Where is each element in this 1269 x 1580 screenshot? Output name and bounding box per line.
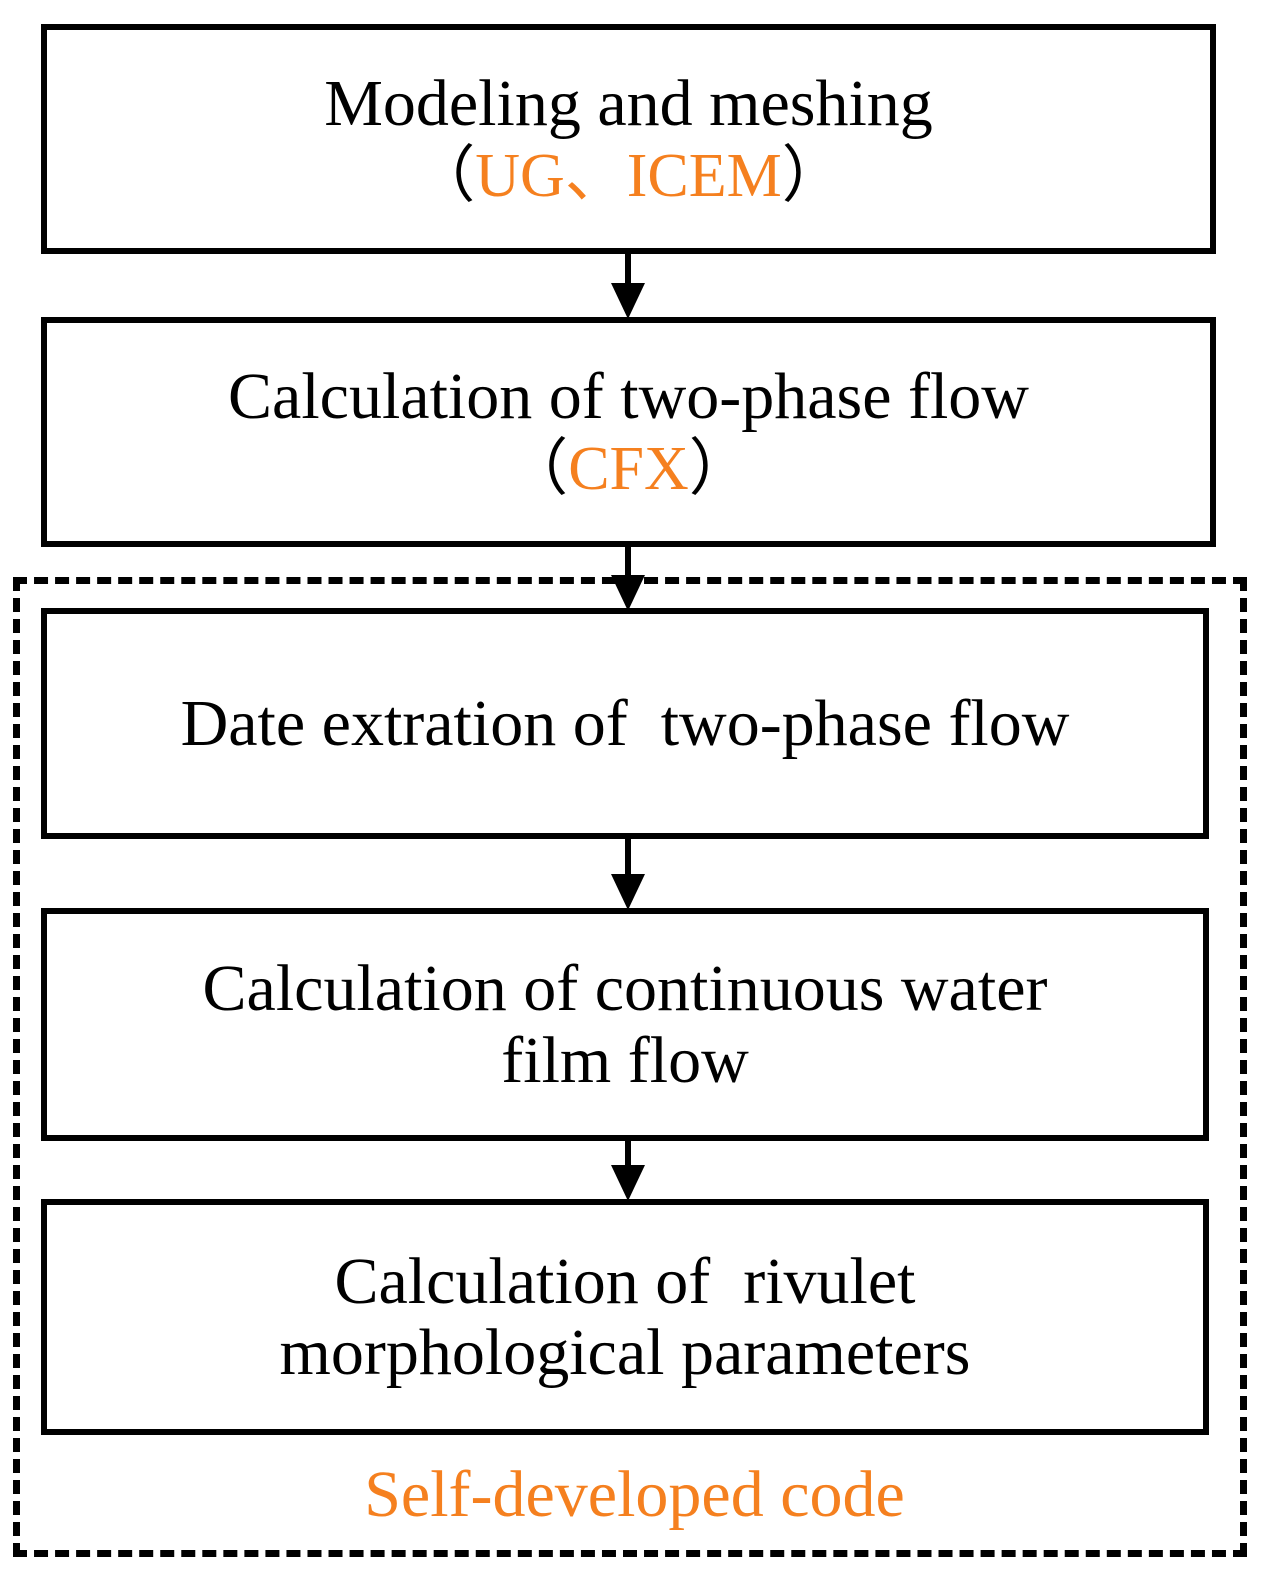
- process-box-data-extraction-text: Date extration of two-phase flow: [47, 688, 1203, 759]
- flowchart-diagram: Modeling and meshing （UG、ICEM） Calculati…: [0, 0, 1269, 1580]
- arrow-head-icon: [611, 575, 645, 611]
- paren-open: （: [413, 142, 475, 210]
- process-box-data-extraction-line1: Date extration of two-phase flow: [61, 688, 1189, 759]
- paren-close: ）: [782, 142, 844, 210]
- paren-open: （: [506, 435, 568, 503]
- process-box-two-phase-flow-text: Calculation of two-phase flow （CFX）: [47, 361, 1210, 503]
- arrow-water-film-to-rivulet-parameters: [615, 1139, 641, 1201]
- paren-close: ）: [689, 435, 751, 503]
- process-box-two-phase-flow-line1: Calculation of two-phase flow: [61, 361, 1196, 432]
- arrow-data-extraction-to-water-film: [615, 837, 641, 910]
- process-box-modeling-tool-line: （UG、ICEM）: [61, 143, 1196, 210]
- process-box-two-phase-flow: Calculation of two-phase flow （CFX）: [41, 317, 1216, 547]
- process-box-water-film-line2: film flow: [61, 1025, 1189, 1096]
- arrow-shaft: [625, 545, 631, 579]
- process-box-water-film: Calculation of continuous water film flo…: [41, 908, 1209, 1141]
- process-box-rivulet-parameters-text: Calculation of rivulet morphological par…: [47, 1246, 1203, 1389]
- process-box-water-film-text: Calculation of continuous water film flo…: [47, 953, 1203, 1096]
- process-box-rivulet-parameters-line1: Calculation of rivulet: [61, 1246, 1189, 1317]
- self-developed-code-label: Self-developed code: [0, 1462, 1269, 1528]
- process-box-data-extraction: Date extration of two-phase flow: [41, 608, 1209, 839]
- process-box-two-phase-flow-tool-line: （CFX）: [61, 436, 1196, 503]
- process-box-water-film-line1: Calculation of continuous water: [61, 953, 1189, 1024]
- process-box-rivulet-parameters: Calculation of rivulet morphological par…: [41, 1199, 1209, 1435]
- tool-label-cfx: CFX: [568, 435, 689, 503]
- arrow-head-icon: [611, 283, 645, 319]
- arrow-head-icon: [611, 1165, 645, 1201]
- arrow-two-phase-flow-to-data-extraction: [615, 545, 641, 611]
- arrow-modeling-to-two-phase-flow: [615, 252, 641, 319]
- process-box-modeling-line1: Modeling and meshing: [61, 68, 1196, 139]
- process-box-modeling: Modeling and meshing （UG、ICEM）: [41, 24, 1216, 254]
- arrow-head-icon: [611, 874, 645, 910]
- arrow-shaft: [625, 837, 631, 877]
- process-box-modeling-text: Modeling and meshing （UG、ICEM）: [47, 68, 1210, 210]
- process-box-rivulet-parameters-line2: morphological parameters: [61, 1317, 1189, 1388]
- tool-label-ug-icem: UG、ICEM: [475, 142, 782, 210]
